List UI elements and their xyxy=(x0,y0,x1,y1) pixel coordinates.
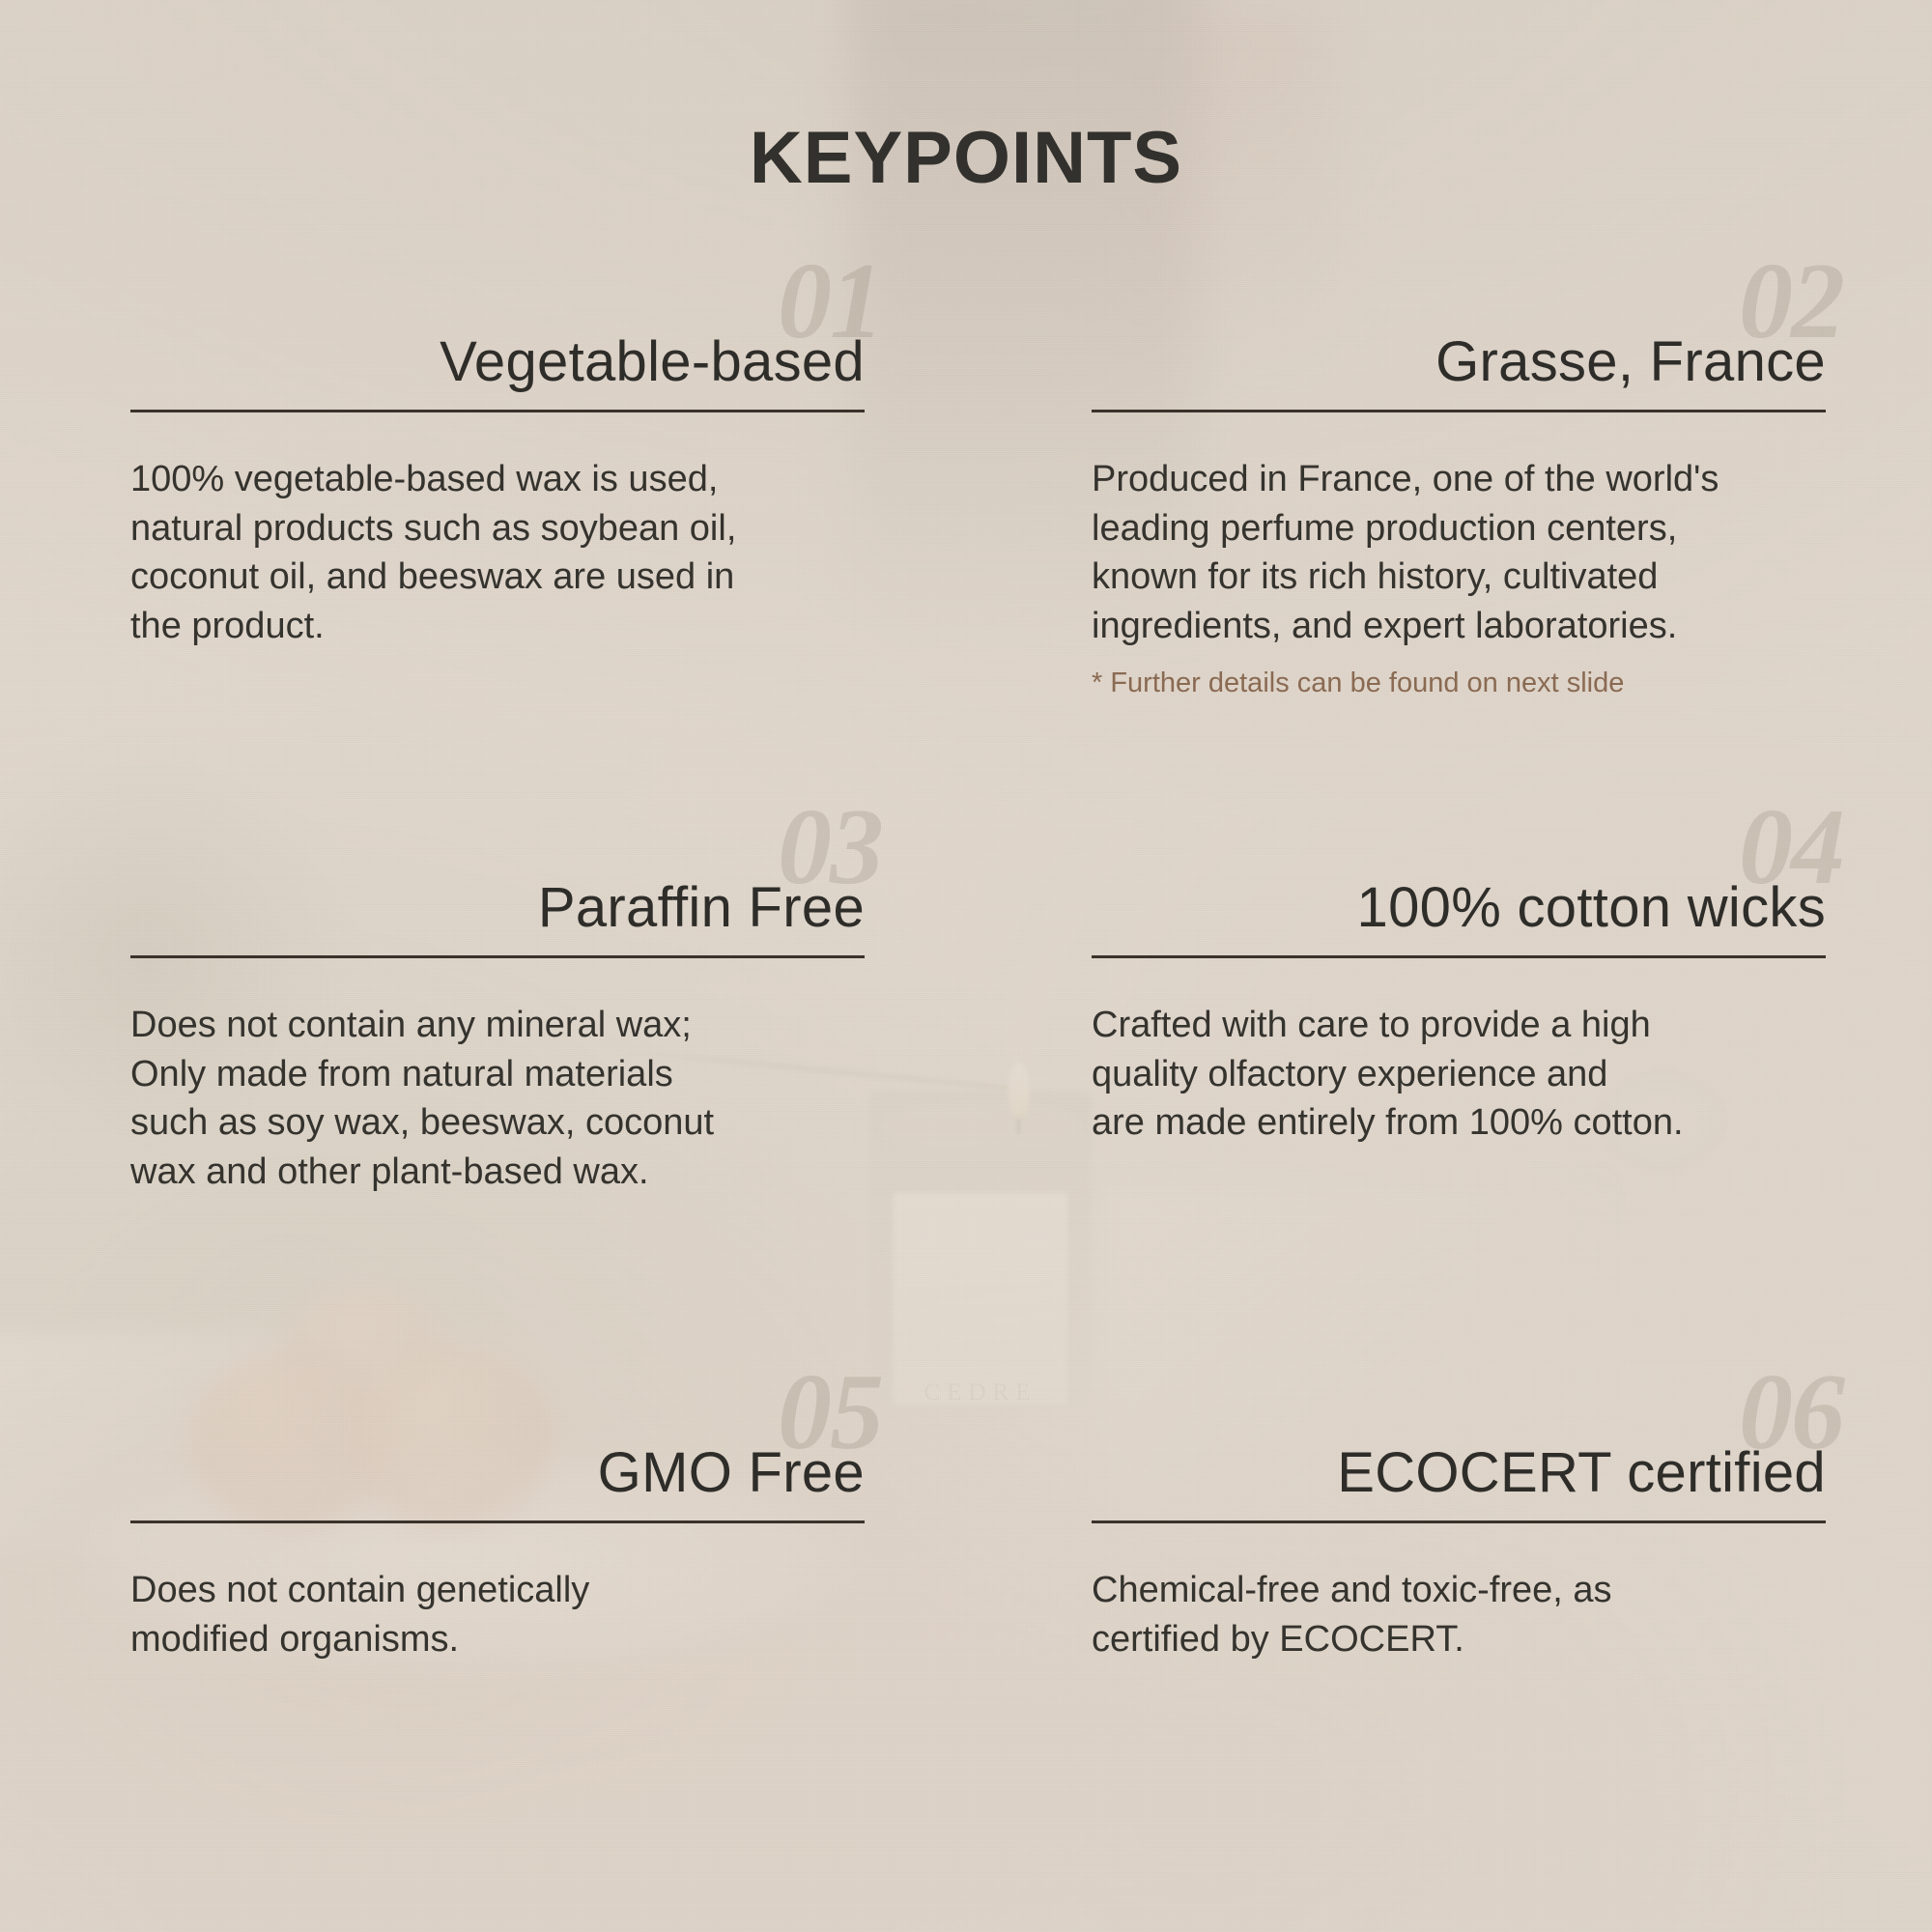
card-title: ECOCERT certified xyxy=(1337,1440,1826,1505)
keypoint-card-04: 04 100% cotton wicks Crafted with care t… xyxy=(1092,836,1826,1148)
card-header: 01 Vegetable-based xyxy=(130,290,865,394)
card-header: 03 Paraffin Free xyxy=(130,836,865,940)
card-body: Crafted with care to provide a high qual… xyxy=(1092,1001,1826,1148)
divider xyxy=(1092,410,1826,412)
card-title: GMO Free xyxy=(598,1440,865,1505)
keypoint-card-06: 06 ECOCERT certified Chemical-free and t… xyxy=(1092,1401,1826,1663)
keypoint-card-01: 01 Vegetable-based 100% vegetable-based … xyxy=(130,290,865,650)
card-header: 04 100% cotton wicks xyxy=(1092,836,1826,940)
divider xyxy=(130,410,865,412)
card-title: Vegetable-based xyxy=(440,329,865,394)
keypoint-card-02: 02 Grasse, France Produced in France, on… xyxy=(1092,290,1826,702)
divider xyxy=(1092,955,1826,958)
card-header: 06 ECOCERT certified xyxy=(1092,1401,1826,1505)
keypoint-card-05: 05 GMO Free Does not contain genetically… xyxy=(130,1401,865,1663)
divider xyxy=(130,955,865,958)
card-body: Chemical-free and toxic-free, as certifi… xyxy=(1092,1566,1826,1663)
card-body: Does not contain genetically modified or… xyxy=(130,1566,865,1663)
page-title: KEYPOINTS xyxy=(0,116,1932,200)
divider xyxy=(1092,1520,1826,1523)
keypoint-card-03: 03 Paraffin Free Does not contain any mi… xyxy=(130,836,865,1196)
card-title: Grasse, France xyxy=(1435,329,1826,394)
card-title: Paraffin Free xyxy=(538,875,865,940)
card-title: 100% cotton wicks xyxy=(1357,875,1826,940)
divider xyxy=(130,1520,865,1523)
card-body: 100% vegetable-based wax is used, natura… xyxy=(130,455,865,650)
card-body: Produced in France, one of the world's l… xyxy=(1092,455,1826,650)
card-header: 05 GMO Free xyxy=(130,1401,865,1505)
card-header: 02 Grasse, France xyxy=(1092,290,1826,394)
slide-content: KEYPOINTS 01 Vegetable-based 100% vegeta… xyxy=(0,0,1932,1932)
slide-canvas: CEDRE KEYPOINTS 01 Vegetable-based 100% … xyxy=(0,0,1932,1932)
card-body: Does not contain any mineral wax; Only m… xyxy=(130,1001,865,1196)
card-footnote: * Further details can be found on next s… xyxy=(1092,666,1826,702)
